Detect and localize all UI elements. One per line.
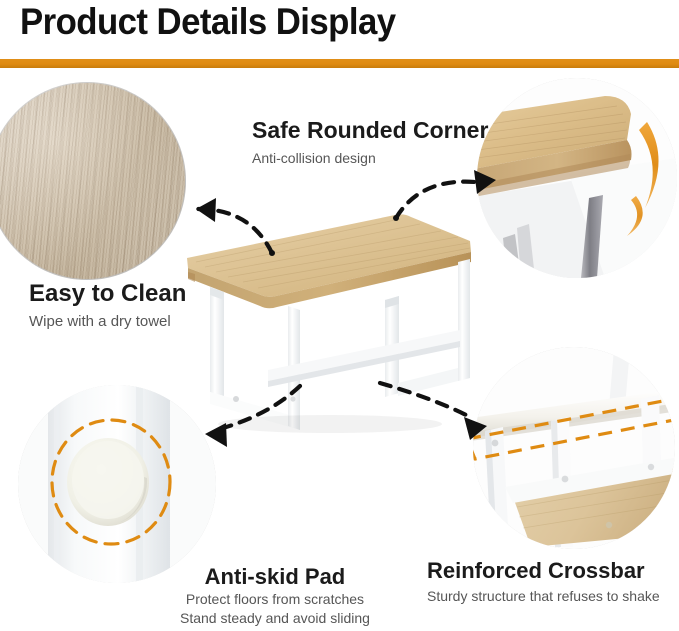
- callout-safe-rounded-corner-text: Safe Rounded Corner Anti-collision desig…: [252, 116, 488, 169]
- arrowhead-easy-to-clean: [196, 198, 216, 222]
- callout-subtitle-easy-to-clean-1: Wipe with a dry towel: [29, 311, 186, 333]
- crossbar-closeup-art: [473, 347, 675, 549]
- callout-easy-to-clean-text: Easy to Clean Wipe with a dry towel: [29, 279, 186, 333]
- callout-subtitle-safe-rounded-corner-1: Anti-collision design: [252, 148, 488, 169]
- page-title: Product Details Display: [20, 0, 396, 46]
- callout-subtitle-anti-skid-pad-1: Protect floors from scratches: [180, 590, 370, 609]
- arrow-path-safe-rounded-corner: [396, 182, 475, 218]
- callout-heading-anti-skid-pad: Anti-skid Pad: [180, 563, 370, 590]
- anchor-dot-top-surface: [269, 250, 275, 256]
- table-corner-closeup-image: [477, 78, 677, 278]
- callout-heading-easy-to-clean: Easy to Clean: [29, 279, 186, 309]
- arrow-path-anti-skid-pad: [216, 386, 300, 430]
- wood-grain-closeup-image: [0, 82, 186, 280]
- callout-heading-safe-rounded-corner: Safe Rounded Corner: [252, 116, 488, 145]
- anchor-dot-corner: [393, 215, 399, 221]
- callout-reinforced-crossbar-text: Reinforced Crossbar Sturdy structure tha…: [427, 557, 660, 606]
- arrow-path-easy-to-clean: [196, 209, 272, 253]
- callout-subtitle-anti-skid-pad-2: Stand steady and avoid sliding: [180, 609, 370, 628]
- callout-subtitle-reinforced-crossbar-1: Sturdy structure that refuses to shake: [427, 586, 660, 606]
- crossbar-closeup-image: [473, 347, 675, 549]
- pad-closeup-art: [18, 385, 216, 583]
- corner-closeup-art: [477, 78, 677, 278]
- arrow-path-reinforced-crossbar: [380, 383, 472, 418]
- arrowhead-anti-skid-pad: [205, 423, 227, 447]
- callout-anti-skid-pad-text: Anti-skid Pad Protect floors from scratc…: [180, 563, 370, 628]
- header-divider-rule: [0, 59, 679, 68]
- callout-heading-reinforced-crossbar: Reinforced Crossbar: [427, 557, 660, 585]
- anti-skid-pad-closeup-image: [18, 385, 216, 583]
- infographic-canvas: Product Details Display: [0, 0, 679, 631]
